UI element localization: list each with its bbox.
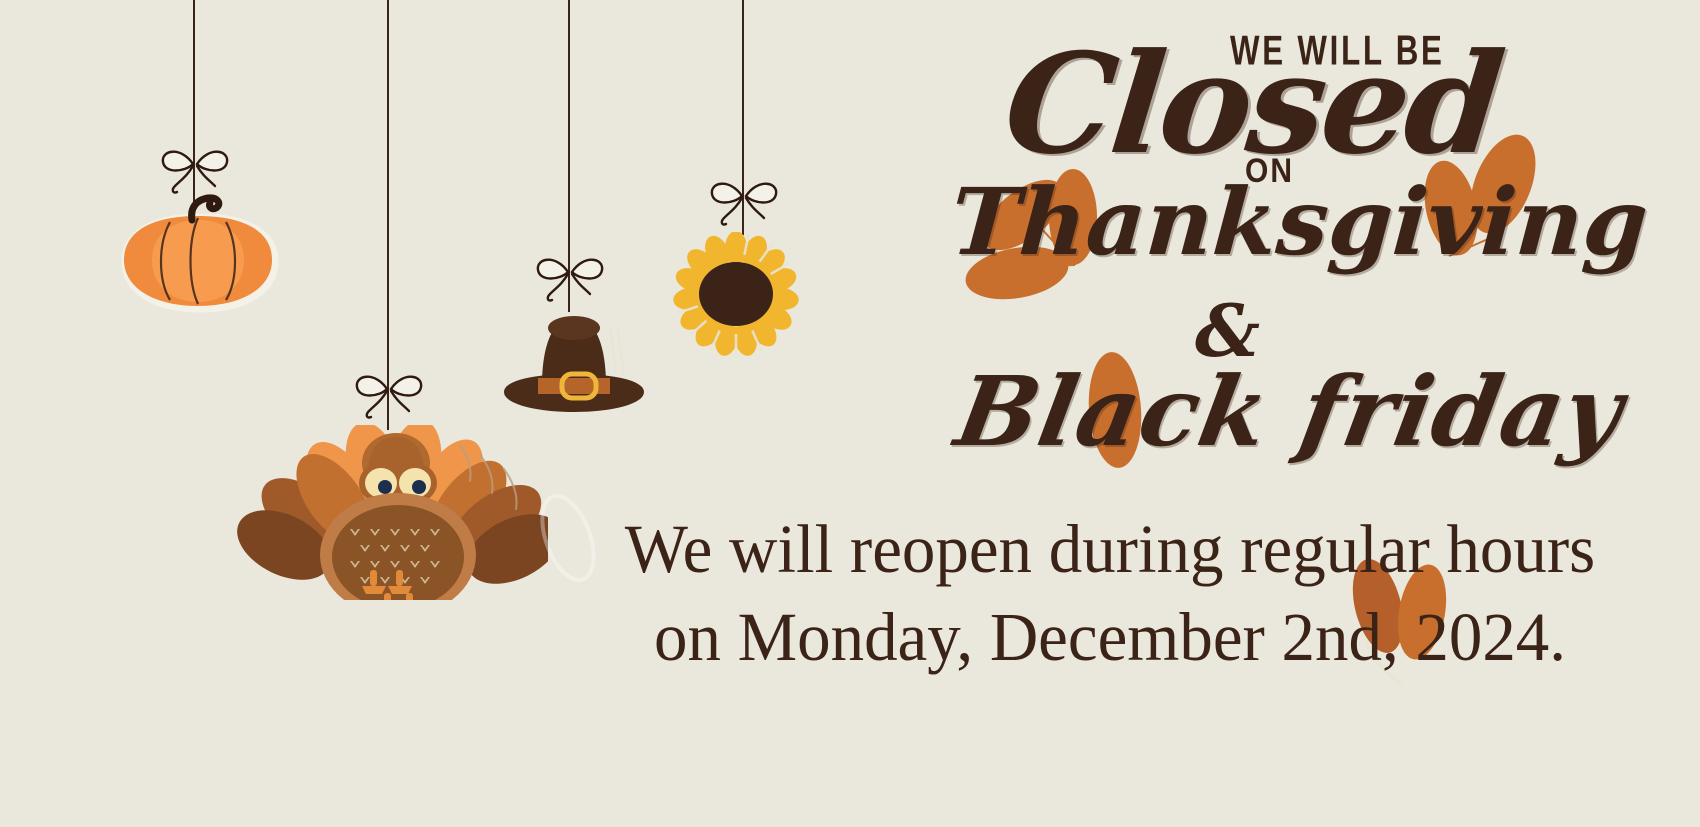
- headline-block: WE WILL BE Closed ON Thanksgiving & Blac…: [900, 0, 1700, 470]
- reopen-message-line-1: We will reopen during regular hours: [547, 505, 1672, 593]
- bow-icon-sunflower: [696, 172, 792, 234]
- turkey-feet-icon: [352, 570, 432, 600]
- pilgrim-hat-icon: [494, 300, 654, 420]
- reopen-message-line-2: on Monday, December 2nd, 2024.: [547, 593, 1672, 681]
- sunflower-icon: [664, 232, 814, 362]
- bow-icon-turkey: [341, 365, 437, 427]
- headline-thanksgiving: Thanksgiving: [947, 168, 1651, 276]
- headline-black-friday: Black friday: [948, 355, 1632, 468]
- pumpkin-icon: [96, 190, 306, 320]
- thanksgiving-closed-banner: WE WILL BE Closed ON Thanksgiving & Blac…: [0, 0, 1700, 827]
- reopen-message: We will reopen during regular hours on M…: [547, 505, 1672, 682]
